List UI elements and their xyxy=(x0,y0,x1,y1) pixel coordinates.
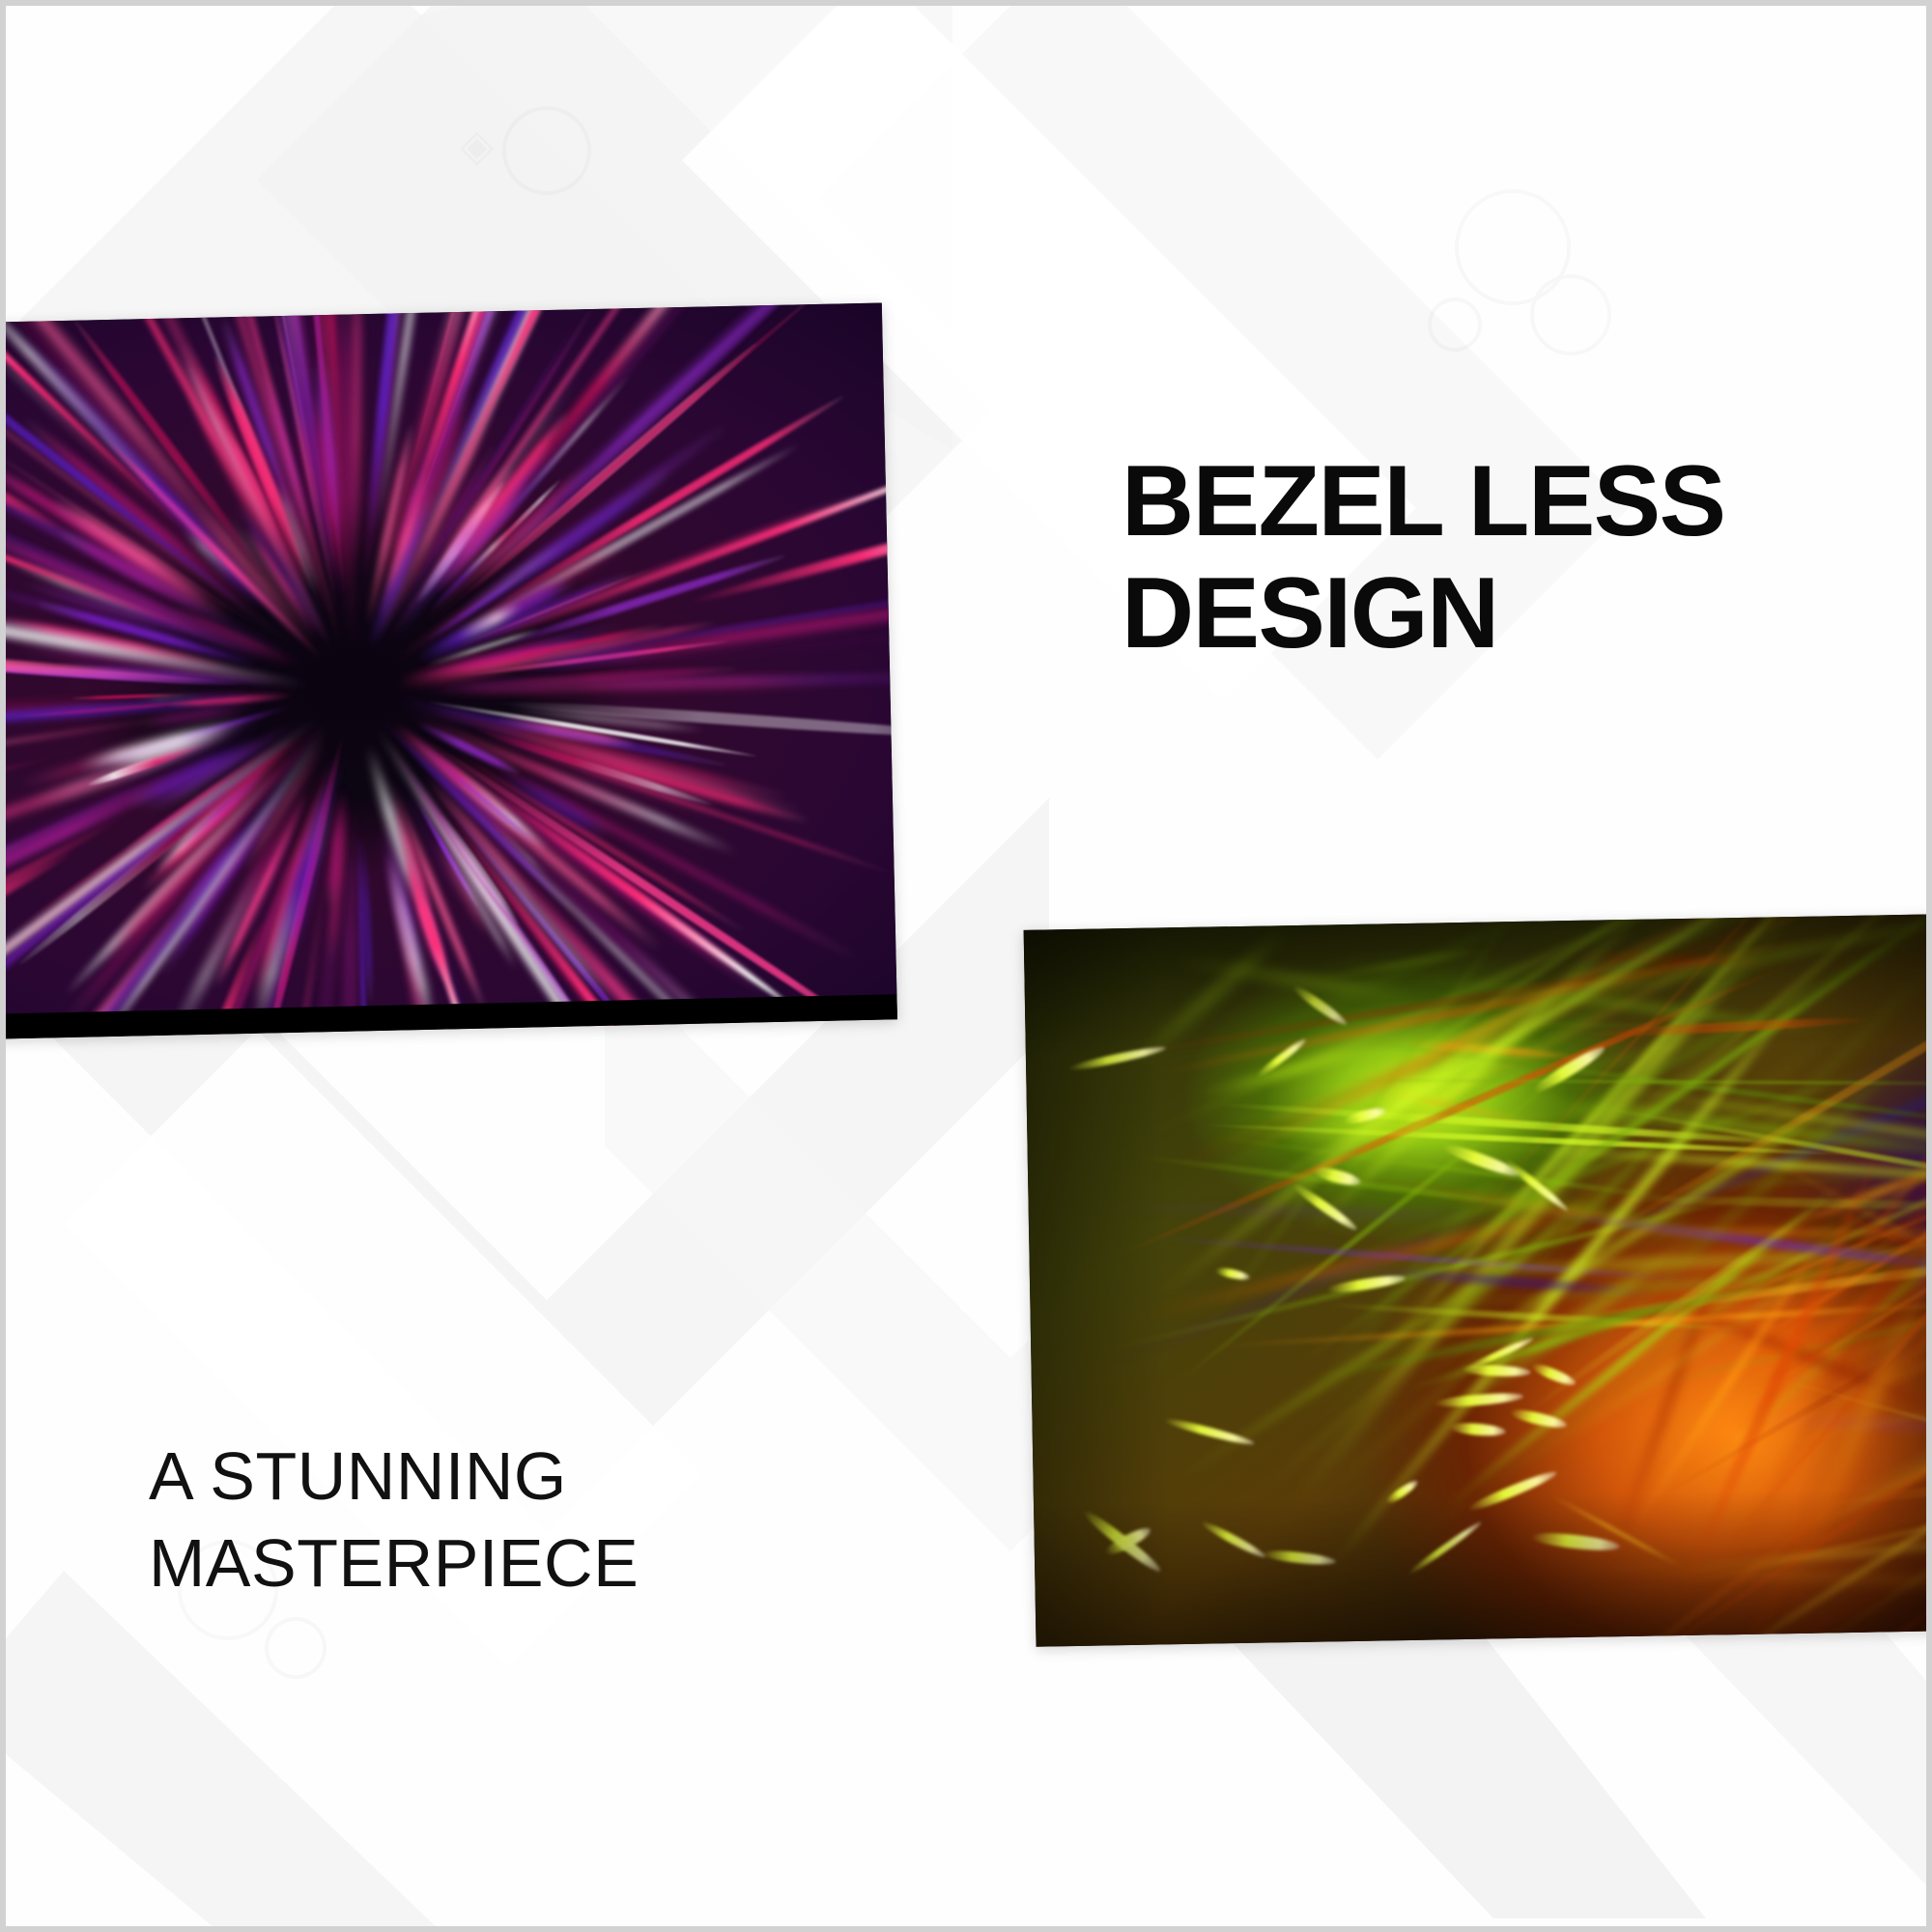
subhead-a-stunning-masterpiece: A STUNNING MASTERPIECE xyxy=(149,1434,883,1606)
svg-text:◈: ◈ xyxy=(460,120,495,170)
green-fractal-photo[interactable] xyxy=(1024,913,1932,1647)
green-fractal-vignette xyxy=(1024,913,1932,1647)
purple-warp-photo[interactable] xyxy=(0,302,897,1039)
headline-bezel-less-design: BEZEL LESS DESIGN xyxy=(1122,445,1856,670)
purple-warp-photo-inner xyxy=(0,302,897,1039)
slide-canvas: ◈ ◈ BEZEL LESS DESIGN A STUNNING MASTERP… xyxy=(0,0,1932,1932)
green-fractal-photo-inner xyxy=(1024,913,1932,1647)
